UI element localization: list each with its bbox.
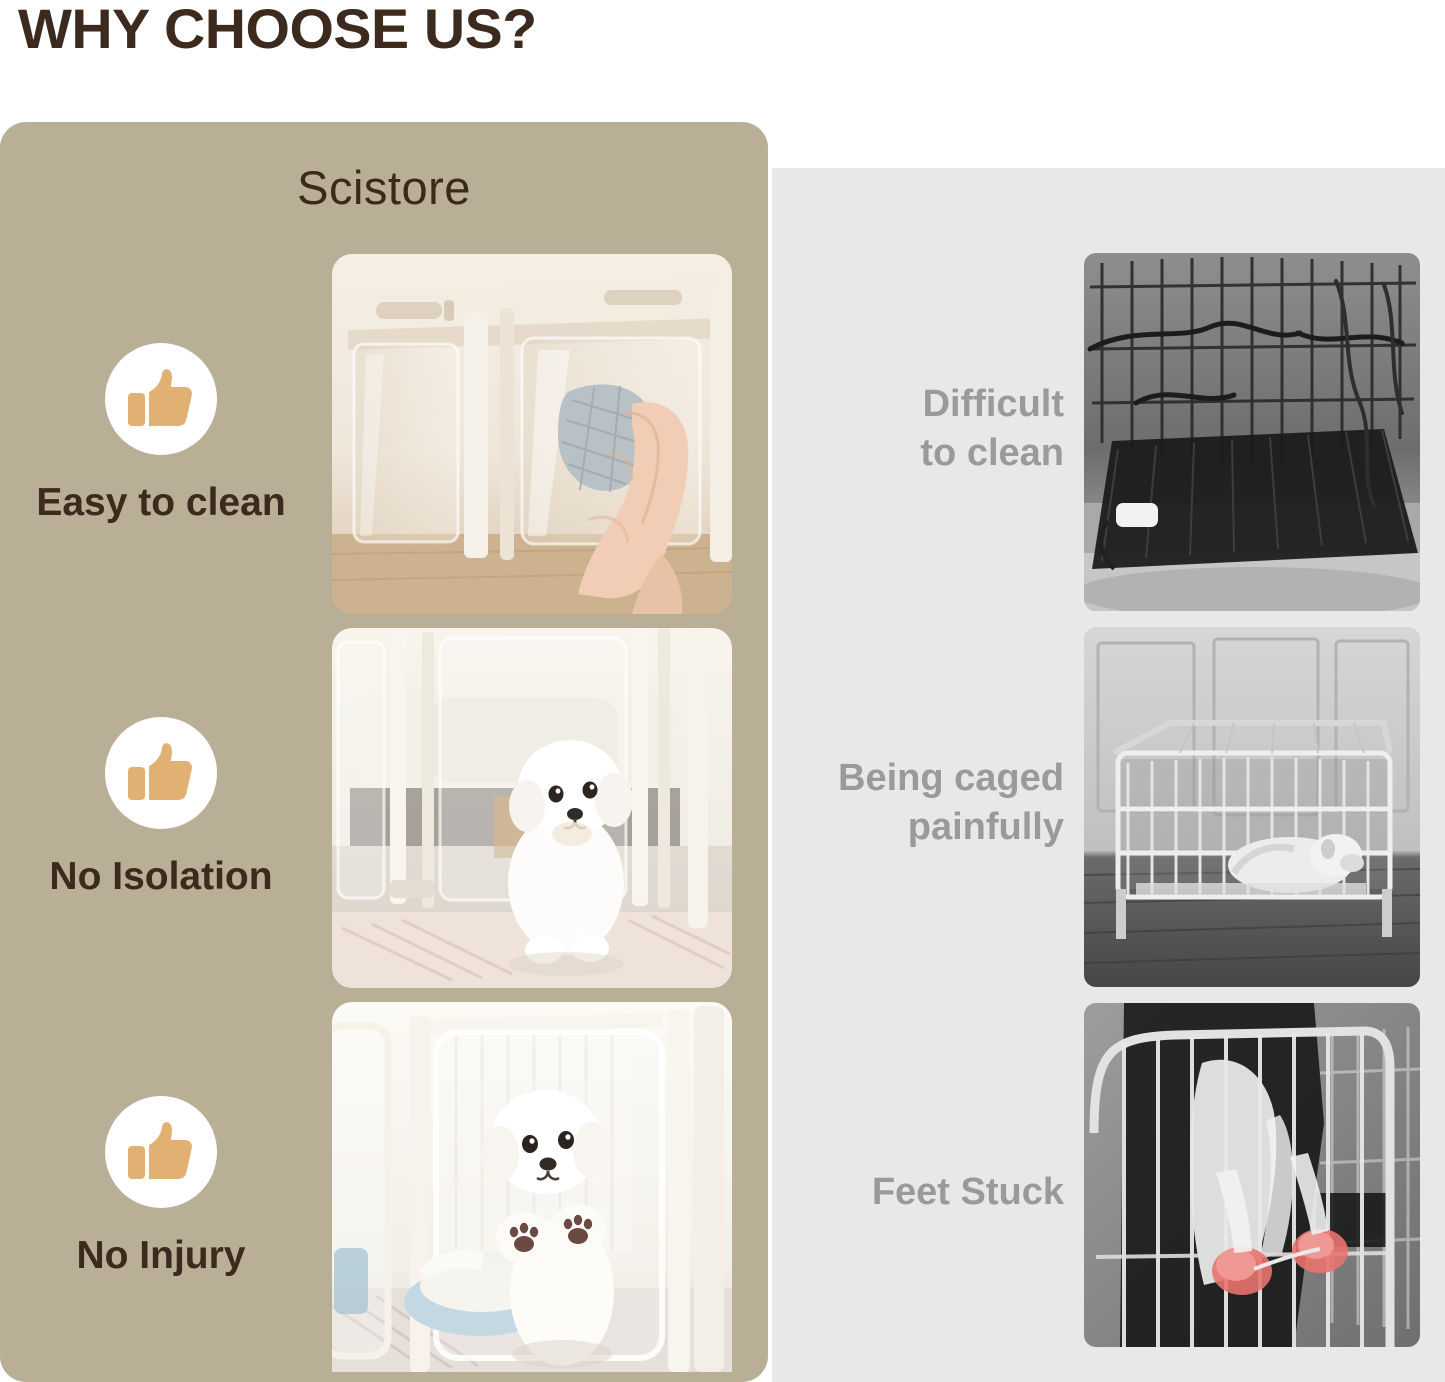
dog-in-metal-cage-image (1084, 627, 1420, 987)
pro-row-caption-group: Easy to clean (0, 254, 322, 614)
brand-name: Scistore (0, 160, 768, 215)
pro-photo-easy-to-clean (332, 254, 732, 614)
thumbs-up-icon (105, 717, 217, 829)
pro-row-no-isolation: No Isolation (0, 628, 768, 988)
pro-label: Easy to clean (30, 481, 291, 525)
thumbs-up-icon (105, 343, 217, 455)
page-title: WHY CHOOSE US? (18, 0, 537, 61)
con-label-difficult-to-clean: Difficult to clean (792, 380, 1064, 477)
pro-row-caption-group: No Injury (0, 1002, 322, 1372)
con-photo-dog-in-metal-cage (1084, 627, 1420, 987)
dog-in-playpen-image (332, 628, 732, 988)
thumbs-up-glyph (126, 366, 196, 432)
con-label-line: Feet Stuck (792, 1168, 1064, 1217)
con-label-line: painfully (778, 803, 1064, 852)
con-photo-black-wire-crate (1084, 253, 1420, 611)
pro-label: No Isolation (43, 855, 278, 899)
con-label-line: Being caged (778, 754, 1064, 803)
pro-photo-no-injury (332, 1002, 732, 1372)
hand-wiping-panel-image (332, 254, 732, 614)
competitor-panel: Difficult to clean (772, 168, 1445, 1382)
con-label-feet-stuck: Feet Stuck (792, 1168, 1064, 1217)
pro-label: No Injury (70, 1234, 251, 1278)
dog-standing-on-panel-image (332, 1002, 732, 1372)
pro-photo-no-isolation (332, 628, 732, 988)
thumbs-up-glyph (126, 1119, 196, 1185)
brand-panel: Scistore Easy to clean (0, 122, 768, 1382)
pro-row-caption-group: No Isolation (0, 628, 322, 988)
thumbs-up-glyph (126, 740, 196, 806)
con-label-being-caged-painfully: Being caged painfully (778, 754, 1064, 851)
con-label-line: to clean (792, 429, 1064, 478)
con-photo-paws-stuck-in-bars (1084, 1003, 1420, 1347)
thumbs-up-icon (105, 1096, 217, 1208)
con-label-line: Difficult (792, 380, 1064, 429)
infographic-root: WHY CHOOSE US? Difficult to clean (0, 0, 1445, 1382)
pro-row-no-injury: No Injury (0, 1002, 768, 1372)
paws-stuck-in-bars-image (1084, 1003, 1420, 1347)
black-wire-crate-image (1084, 253, 1420, 611)
pro-row-easy-to-clean: Easy to clean (0, 254, 768, 614)
